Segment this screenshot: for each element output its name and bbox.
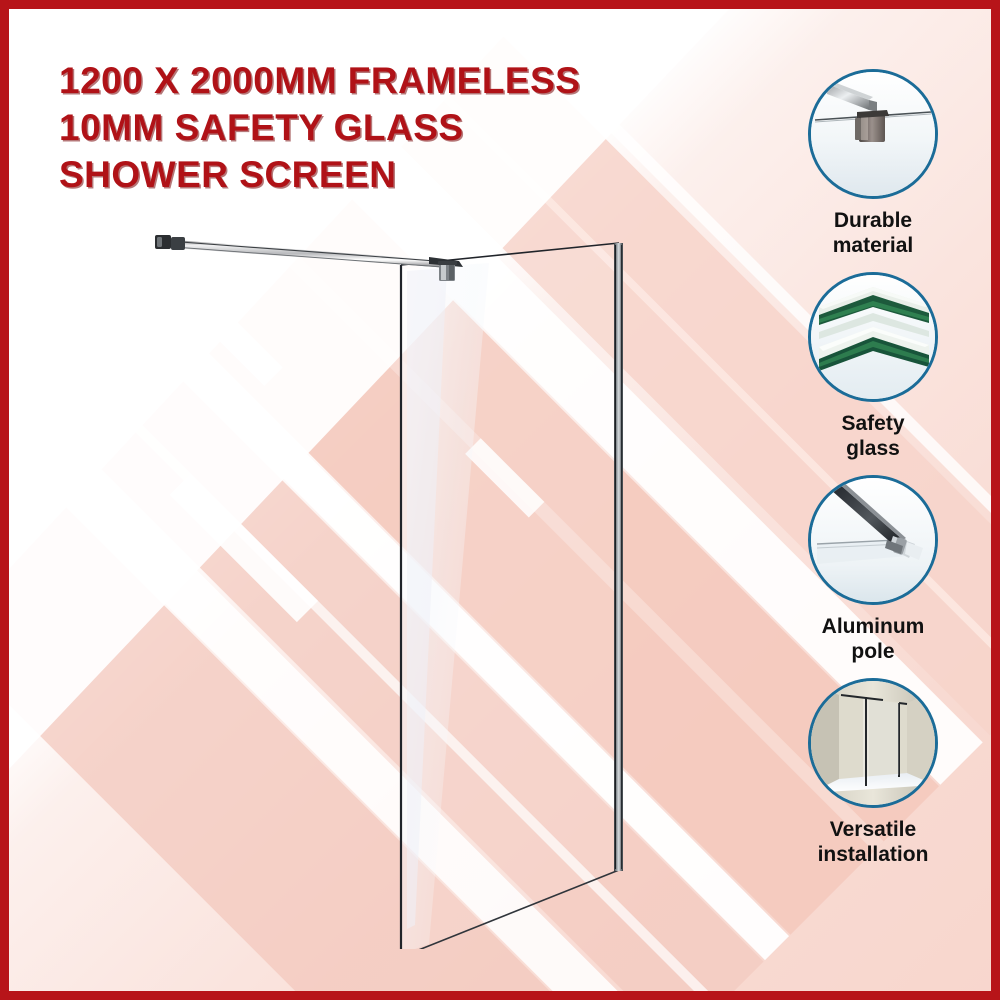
page-title: 1200 X 2000MM FRAMELESS 10MM SAFETY GLAS… [59, 57, 699, 198]
badge-label: Versatile installation [818, 817, 929, 867]
product-illustration [129, 209, 669, 949]
badge-label-line-1: Versatile [818, 817, 929, 842]
wall-mount-bracket [155, 235, 185, 250]
feature-badge-durable-material[interactable]: Durable material [773, 69, 973, 258]
badge-circle [808, 69, 938, 199]
badge-label-line-2: pole [822, 639, 925, 664]
badge-label: Aluminum pole [822, 614, 925, 664]
badge-label-line-2: installation [818, 842, 929, 867]
aluminum-pole-icon [811, 478, 935, 602]
glass-clamp-bracket-icon [811, 72, 935, 196]
badge-label-line-2: material [833, 233, 914, 258]
laminated-safety-glass-icon [811, 275, 935, 399]
feature-badge-aluminum-pole[interactable]: Aluminum pole [773, 475, 973, 664]
glass-thickness-edge [614, 243, 623, 871]
feature-badge-safety-glass[interactable]: Safety glass [773, 272, 973, 461]
shower-screen-drawing [129, 209, 669, 949]
feature-badge-versatile-installation[interactable]: Versatile installation [773, 678, 973, 867]
badge-label-line-1: Aluminum [822, 614, 925, 639]
shower-enclosure-icon [811, 681, 935, 805]
glass-panel [401, 243, 619, 949]
badge-label: Durable material [833, 208, 914, 258]
title-line-3: SHOWER SCREEN [59, 151, 699, 198]
feature-badges: Durable material [773, 69, 973, 881]
badge-circle [808, 272, 938, 402]
badge-label-line-2: glass [841, 436, 904, 461]
badge-circle [808, 678, 938, 808]
title-line-1: 1200 X 2000MM FRAMELESS [59, 57, 699, 104]
badge-label-line-1: Durable [833, 208, 914, 233]
title-line-2: 10MM SAFETY GLASS [59, 104, 699, 151]
badge-circle [808, 475, 938, 605]
support-pole [161, 239, 451, 268]
badge-label-line-1: Safety [841, 411, 904, 436]
badge-label: Safety glass [841, 411, 904, 461]
product-marketing-image: 1200 X 2000MM FRAMELESS 10MM SAFETY GLAS… [0, 0, 1000, 1000]
